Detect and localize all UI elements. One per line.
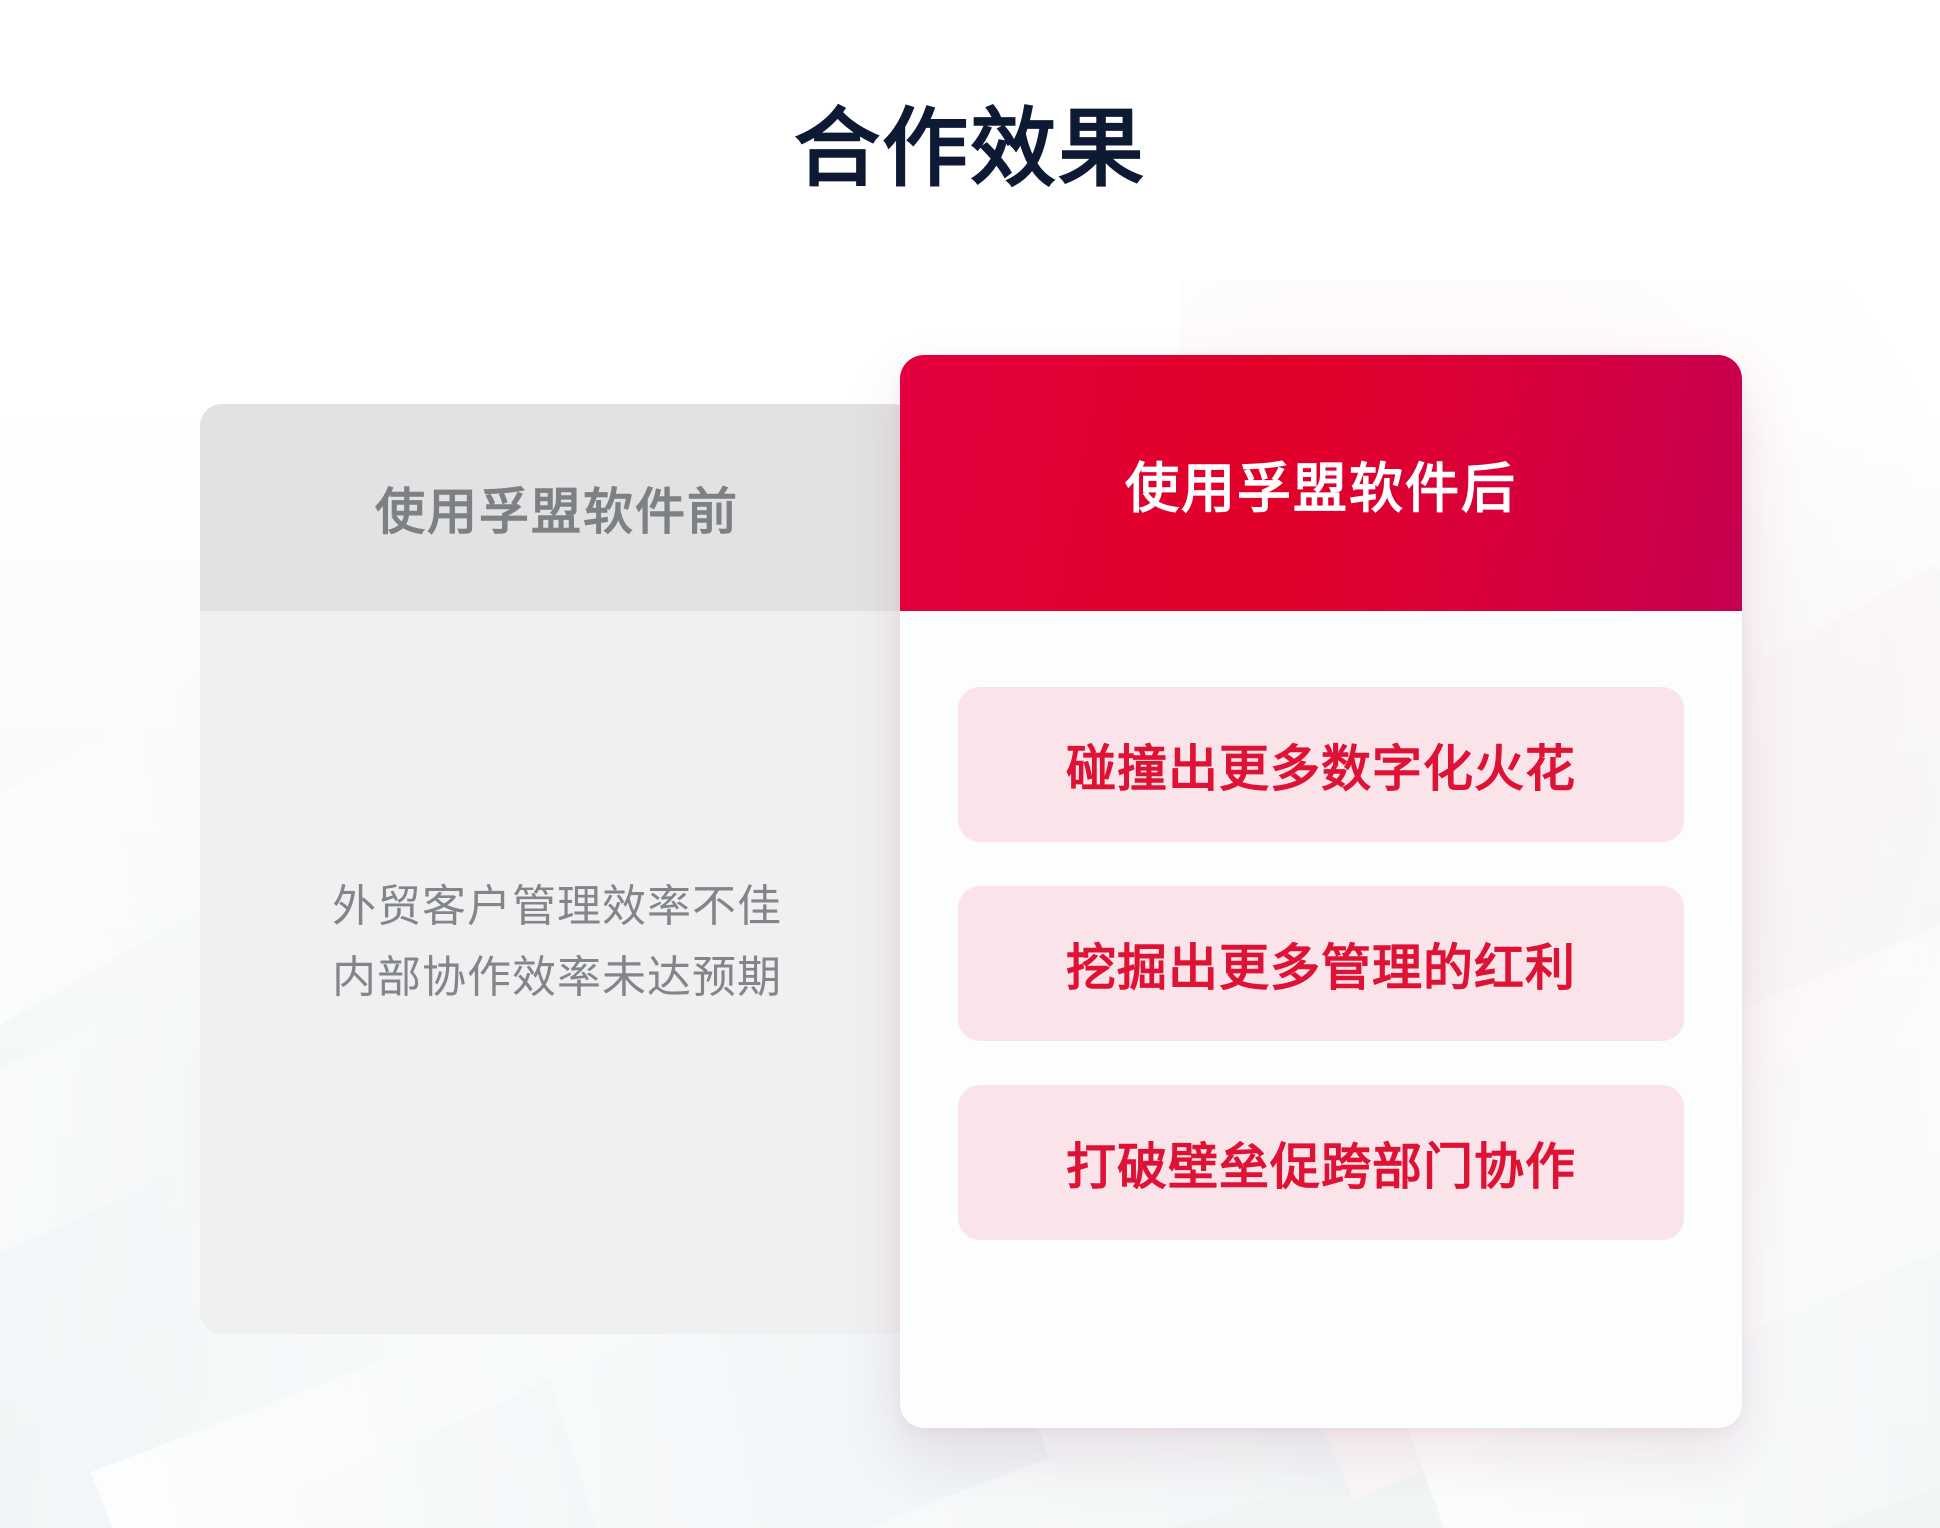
after-card-header: 使用孚盟软件后 [900,355,1742,611]
before-card-header-label: 使用孚盟软件前 [375,472,739,544]
after-card: 使用孚盟软件后 碰撞出更多数字化火花 挖掘出更多管理的红利 打破壁垒促跨部门协作 [900,355,1742,1428]
page-title: 合作效果 [0,103,1940,196]
benefit-pill: 打破壁垒促跨部门协作 [958,1085,1684,1240]
benefit-pill: 碰撞出更多数字化火花 [958,687,1684,842]
before-issue-line: 内部协作效率未达预期 [332,947,782,1009]
benefit-pill-label: 打破壁垒促跨部门协作 [1066,1127,1576,1199]
after-card-header-label: 使用孚盟软件后 [1125,444,1517,523]
benefit-pill-label: 挖掘出更多管理的红利 [1066,928,1576,1000]
benefit-pill: 挖掘出更多管理的红利 [958,886,1684,1041]
before-card: 使用孚盟软件前 外贸客户管理效率不佳 内部协作效率未达预期 [200,404,914,1334]
before-issue-line: 外贸客户管理效率不佳 [332,876,782,938]
before-card-header: 使用孚盟软件前 [200,404,914,611]
benefit-pill-label: 碰撞出更多数字化火花 [1066,729,1576,801]
after-card-body: 碰撞出更多数字化火花 挖掘出更多管理的红利 打破壁垒促跨部门协作 [900,611,1742,1240]
comparison-section: 使用孚盟软件前 外贸客户管理效率不佳 内部协作效率未达预期 使用孚盟软件后 碰撞… [0,0,1940,1528]
before-card-body: 外贸客户管理效率不佳 内部协作效率未达预期 [200,611,914,1334]
